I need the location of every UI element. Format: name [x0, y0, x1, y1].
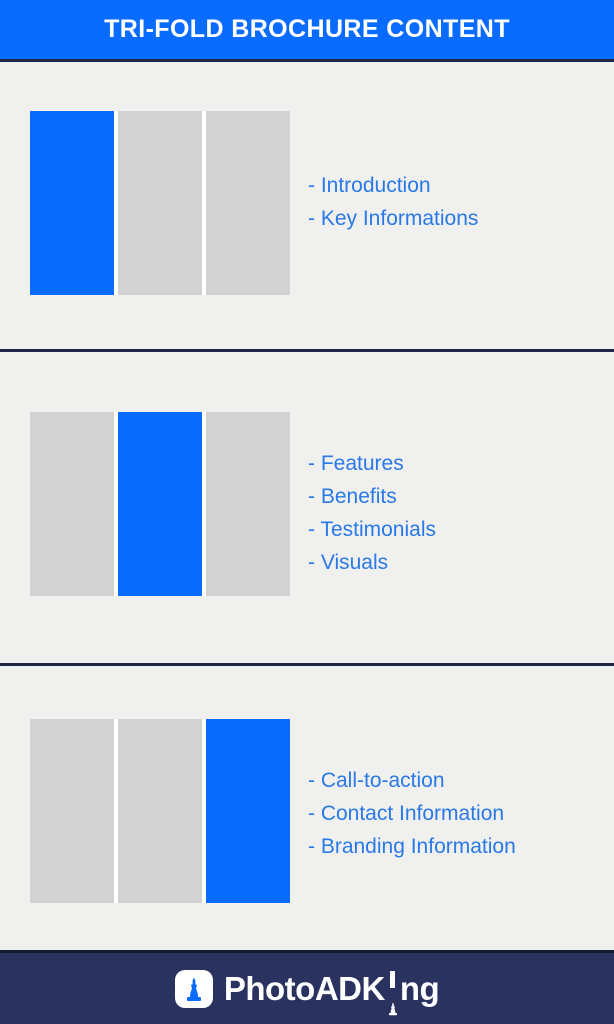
brochure-panel-left-2: [30, 412, 114, 596]
brand-name-part1: PhotoADK: [224, 970, 385, 1008]
brochure-mock-1: [30, 111, 290, 295]
section-3: - Call-to-action - Contact Information -…: [0, 666, 614, 950]
brochure-mock-3: [30, 719, 290, 903]
header-bar: TRI-FOLD BROCHURE CONTENT: [0, 0, 614, 62]
footer-bar: PhotoADK ng: [0, 950, 614, 1024]
brochure-mock-2: [30, 412, 290, 596]
list-item: - Benefits: [308, 480, 608, 513]
list-item: - Call-to-action: [308, 764, 608, 797]
brand-name: PhotoADK ng: [224, 970, 439, 1008]
brochure-panel-right-1: [206, 111, 290, 295]
content-list-1: - Introduction - Key Informations: [308, 169, 608, 235]
section-2: - Features - Benefits - Testimonials - V…: [0, 352, 614, 663]
page-title: TRI-FOLD BROCHURE CONTENT: [104, 15, 510, 44]
brochure-panel-middle-1: [118, 111, 202, 295]
list-item: - Testimonials: [308, 513, 608, 546]
infographic-page: TRI-FOLD BROCHURE CONTENT - Introduction…: [0, 0, 614, 1024]
list-item: - Introduction: [308, 169, 608, 202]
list-item: - Key Informations: [308, 202, 608, 235]
list-item: - Features: [308, 447, 608, 480]
brand-name-part2: ng: [400, 970, 439, 1008]
list-item: - Visuals: [308, 546, 608, 579]
brochure-panel-right-2: [206, 412, 290, 596]
chess-king-icon: [175, 970, 213, 1008]
brochure-panel-middle-2: [118, 412, 202, 596]
content-list-2: - Features - Benefits - Testimonials - V…: [308, 447, 608, 579]
brochure-panel-left-1: [30, 111, 114, 295]
section-1: - Introduction - Key Informations: [0, 65, 614, 349]
list-item: - Contact Information: [308, 797, 608, 830]
brochure-panel-middle-3: [118, 719, 202, 903]
brochure-panel-left-3: [30, 719, 114, 903]
content-list-3: - Call-to-action - Contact Information -…: [308, 764, 608, 863]
list-item: - Branding Information: [308, 830, 608, 863]
brochure-panel-right-3: [206, 719, 290, 903]
